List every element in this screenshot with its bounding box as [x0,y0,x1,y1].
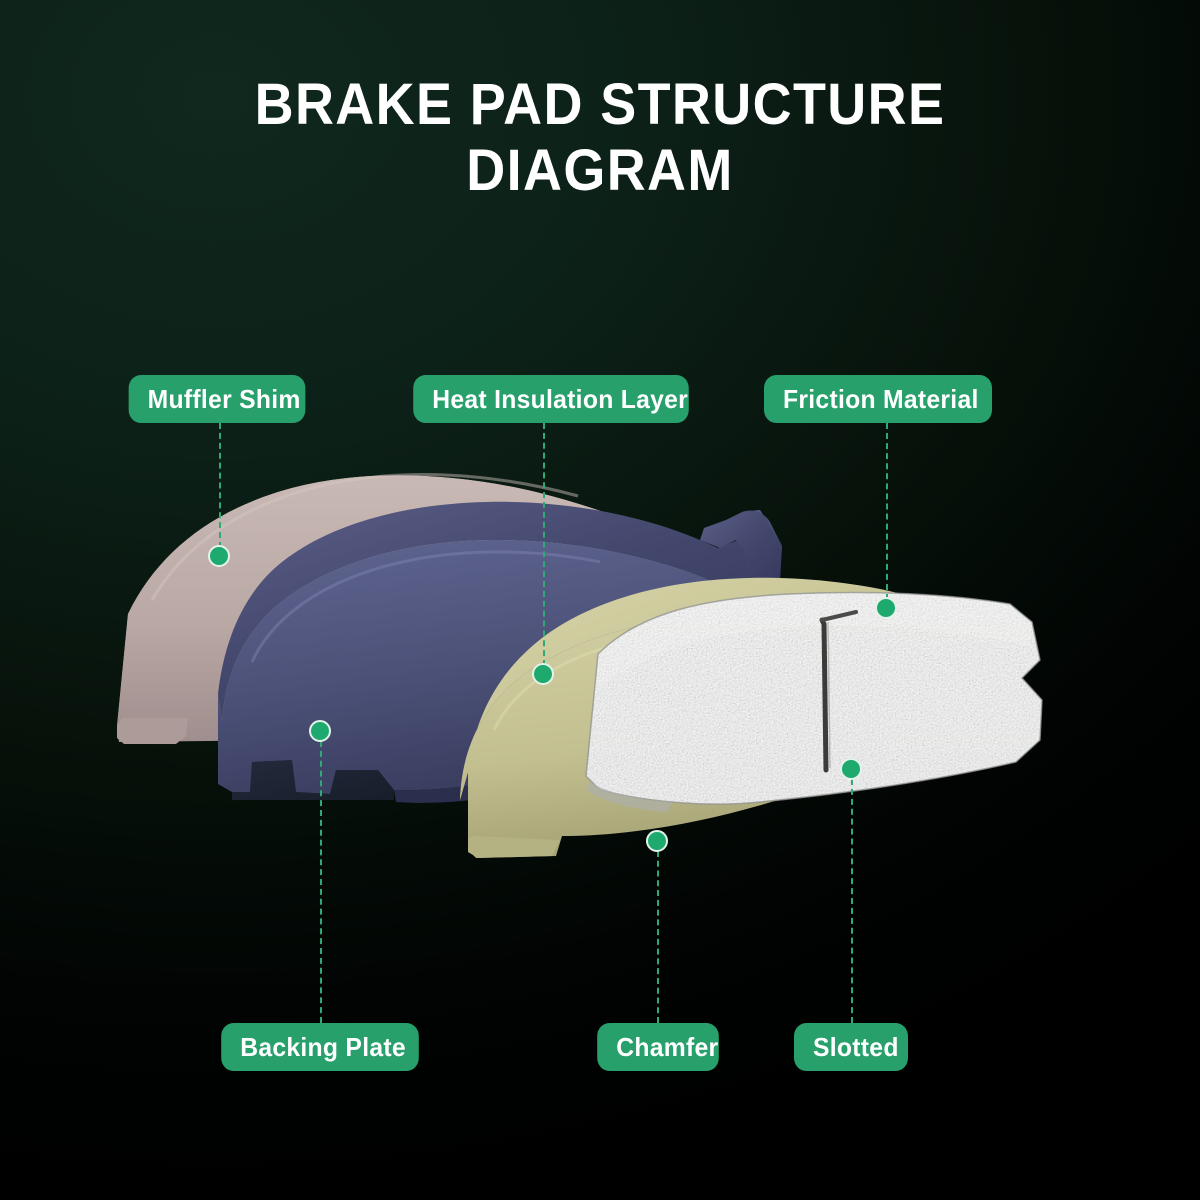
callout-badge-muffler-shim[interactable]: Muffler Shim [129,375,306,423]
callout-dot-muffler-shim[interactable] [208,545,230,567]
title-line-1: BRAKE PAD STRUCTURE [42,72,1158,138]
callout-dot-heat-insulation-layer[interactable] [532,663,554,685]
callout-dot-slotted[interactable] [840,758,862,780]
leader-line-friction-material [886,423,888,600]
leader-line-slotted [851,779,853,1023]
leader-line-muffler-shim [219,423,221,548]
callout-badge-slotted[interactable]: Slotted [794,1023,908,1071]
leader-line-heat-insulation-layer [543,423,545,666]
title-line-2: DIAGRAM [42,138,1158,204]
leader-line-chamfer [657,851,659,1023]
page-title: BRAKE PAD STRUCTURE DIAGRAM [0,72,1200,204]
leader-line-backing-plate [320,741,322,1023]
callout-badge-friction-material[interactable]: Friction Material [764,375,992,423]
callout-dot-backing-plate[interactable] [309,720,331,742]
callout-badge-backing-plate[interactable]: Backing Plate [221,1023,419,1071]
callout-dot-friction-material[interactable] [875,597,897,619]
brake-pad-structure-diagram: BRAKE PAD STRUCTURE DIAGRAM [0,0,1200,1200]
callout-dot-chamfer[interactable] [646,830,668,852]
callout-badge-chamfer[interactable]: Chamfer [597,1023,719,1071]
callout-badge-heat-insulation-layer[interactable]: Heat Insulation Layer [413,375,689,423]
